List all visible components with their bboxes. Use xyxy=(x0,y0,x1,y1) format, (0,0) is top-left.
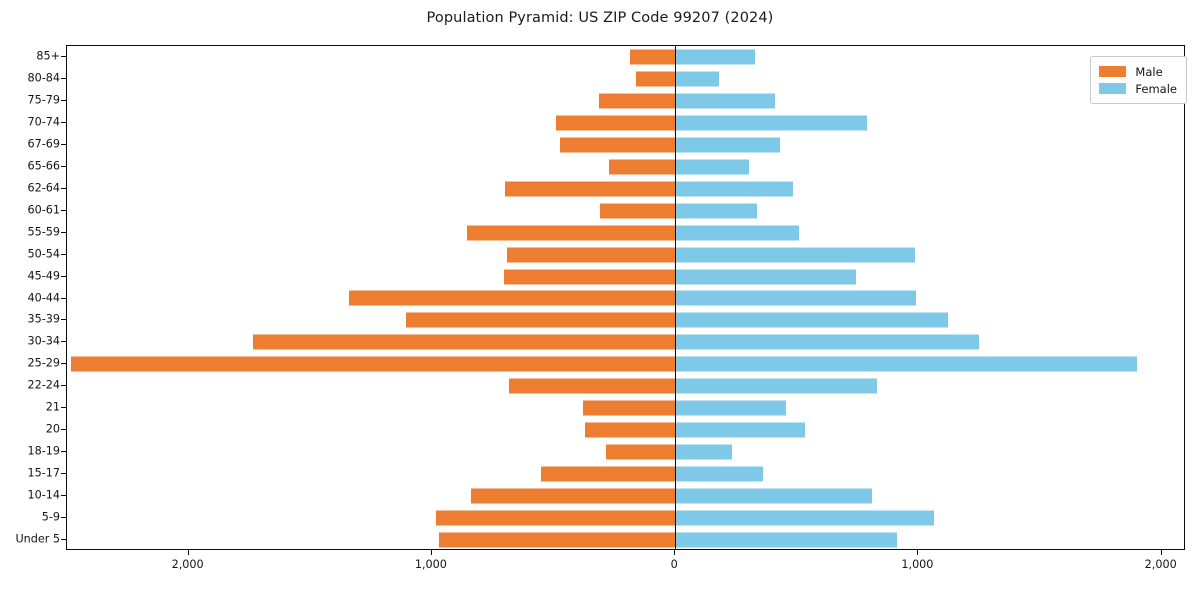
y-axis-label: 55-59 xyxy=(27,225,60,238)
bar-male xyxy=(636,71,675,86)
bar-row xyxy=(67,134,1184,156)
x-axis-tick xyxy=(917,550,918,555)
zero-axis-line xyxy=(675,46,676,549)
y-axis-label: 85+ xyxy=(36,49,60,62)
y-axis-label: 62-64 xyxy=(27,181,60,194)
y-axis-label: 67-69 xyxy=(27,137,60,150)
legend-item-male: Male xyxy=(1099,63,1177,80)
x-axis-tick xyxy=(674,550,675,555)
y-axis-label: 75-79 xyxy=(27,93,60,106)
bar-female xyxy=(675,401,786,416)
chart-title: Population Pyramid: US ZIP Code 99207 (2… xyxy=(0,10,1200,26)
y-axis-label: 80-84 xyxy=(27,71,60,84)
y-axis-label: 22-24 xyxy=(27,379,60,392)
y-axis-label: 15-17 xyxy=(27,467,60,480)
x-axis-ticks xyxy=(66,550,1185,556)
bar-male xyxy=(585,423,675,438)
bar-row xyxy=(67,419,1184,441)
x-axis-label: 1,000 xyxy=(901,558,933,571)
chart-legend[interactable]: Male Female xyxy=(1090,56,1187,104)
y-axis-label: 20 xyxy=(46,423,60,436)
x-axis-tick xyxy=(1161,550,1162,555)
bar-row xyxy=(67,244,1184,266)
bar-row xyxy=(67,353,1184,375)
y-axis-label: Under 5 xyxy=(15,533,60,546)
y-axis-label: 45-49 xyxy=(27,269,60,282)
bar-female xyxy=(675,379,877,394)
bar-row xyxy=(67,375,1184,397)
bar-female xyxy=(675,291,916,306)
y-axis-label: 30-34 xyxy=(27,335,60,348)
bar-male xyxy=(556,115,675,130)
y-axis-label: 65-66 xyxy=(27,159,60,172)
bar-male xyxy=(467,225,675,240)
x-axis-label: 2,000 xyxy=(1145,558,1177,571)
bar-row xyxy=(67,309,1184,331)
bar-male xyxy=(436,511,676,526)
bar-male xyxy=(505,181,675,196)
bar-female xyxy=(675,445,732,460)
bar-female xyxy=(675,489,872,504)
bar-row xyxy=(67,266,1184,288)
bar-male xyxy=(439,533,675,548)
y-axis-label: 50-54 xyxy=(27,247,60,260)
y-axis-label: 10-14 xyxy=(27,489,60,502)
y-axis-label: 5-9 xyxy=(42,511,60,524)
bar-male xyxy=(507,247,675,262)
bar-female xyxy=(675,335,979,350)
bar-male xyxy=(541,467,675,482)
bar-row xyxy=(67,178,1184,200)
bar-male xyxy=(349,291,675,306)
population-pyramid-figure: Population Pyramid: US ZIP Code 99207 (2… xyxy=(0,0,1200,600)
bar-row xyxy=(67,507,1184,529)
bar-female xyxy=(675,181,793,196)
bar-male xyxy=(630,49,675,64)
bar-row xyxy=(67,441,1184,463)
bar-female xyxy=(675,159,749,174)
bar-row xyxy=(67,288,1184,310)
bar-male xyxy=(509,379,676,394)
bar-male xyxy=(606,445,675,460)
bar-row xyxy=(67,331,1184,353)
x-axis-label: 2,000 xyxy=(172,558,204,571)
bar-row xyxy=(67,46,1184,68)
y-axis-labels: 85+80-8475-7970-7467-6965-6662-6460-6155… xyxy=(0,45,60,550)
x-axis-label: 0 xyxy=(671,558,678,571)
y-axis-label: 25-29 xyxy=(27,357,60,370)
bar-row xyxy=(67,156,1184,178)
bar-female xyxy=(675,511,934,526)
bar-female xyxy=(675,203,756,218)
bar-row xyxy=(67,200,1184,222)
x-axis-tick xyxy=(188,550,189,555)
bar-male xyxy=(560,137,676,152)
bar-male xyxy=(583,401,675,416)
bar-male xyxy=(600,203,675,218)
y-axis-label: 35-39 xyxy=(27,313,60,326)
bar-row xyxy=(67,222,1184,244)
bar-female xyxy=(675,357,1137,372)
bar-male xyxy=(599,93,676,108)
y-axis-label: 18-19 xyxy=(27,445,60,458)
legend-label-male: Male xyxy=(1135,65,1162,79)
bar-female xyxy=(675,313,947,328)
bar-male xyxy=(406,313,675,328)
bar-female xyxy=(675,71,719,86)
bar-row xyxy=(67,68,1184,90)
bar-row xyxy=(67,90,1184,112)
legend-swatch-male-icon xyxy=(1099,66,1126,77)
legend-item-female: Female xyxy=(1099,80,1177,97)
bar-male xyxy=(609,159,675,174)
bar-female xyxy=(675,225,799,240)
bar-female xyxy=(675,467,763,482)
bar-female xyxy=(675,423,805,438)
bar-row xyxy=(67,529,1184,550)
x-axis-tick xyxy=(431,550,432,555)
bar-female xyxy=(675,269,856,284)
x-axis-label: 1,000 xyxy=(415,558,447,571)
bar-row xyxy=(67,485,1184,507)
bar-female xyxy=(675,533,896,548)
bar-female xyxy=(675,247,915,262)
y-axis-label: 60-61 xyxy=(27,203,60,216)
bar-male xyxy=(253,335,675,350)
bar-female xyxy=(675,49,755,64)
bar-row xyxy=(67,463,1184,485)
bar-male xyxy=(71,357,676,372)
bar-row xyxy=(67,112,1184,134)
bar-male xyxy=(471,489,675,504)
bar-row xyxy=(67,397,1184,419)
x-axis-labels: 2,0001,00001,0002,000 xyxy=(66,558,1185,580)
bar-female xyxy=(675,115,867,130)
y-axis-label: 70-74 xyxy=(27,115,60,128)
plot-area xyxy=(66,45,1185,550)
bar-male xyxy=(504,269,675,284)
legend-label-female: Female xyxy=(1135,82,1177,96)
y-axis-label: 40-44 xyxy=(27,291,60,304)
bar-female xyxy=(675,137,780,152)
bar-female xyxy=(675,93,775,108)
legend-swatch-female-icon xyxy=(1099,83,1126,94)
y-axis-label: 21 xyxy=(46,401,60,414)
